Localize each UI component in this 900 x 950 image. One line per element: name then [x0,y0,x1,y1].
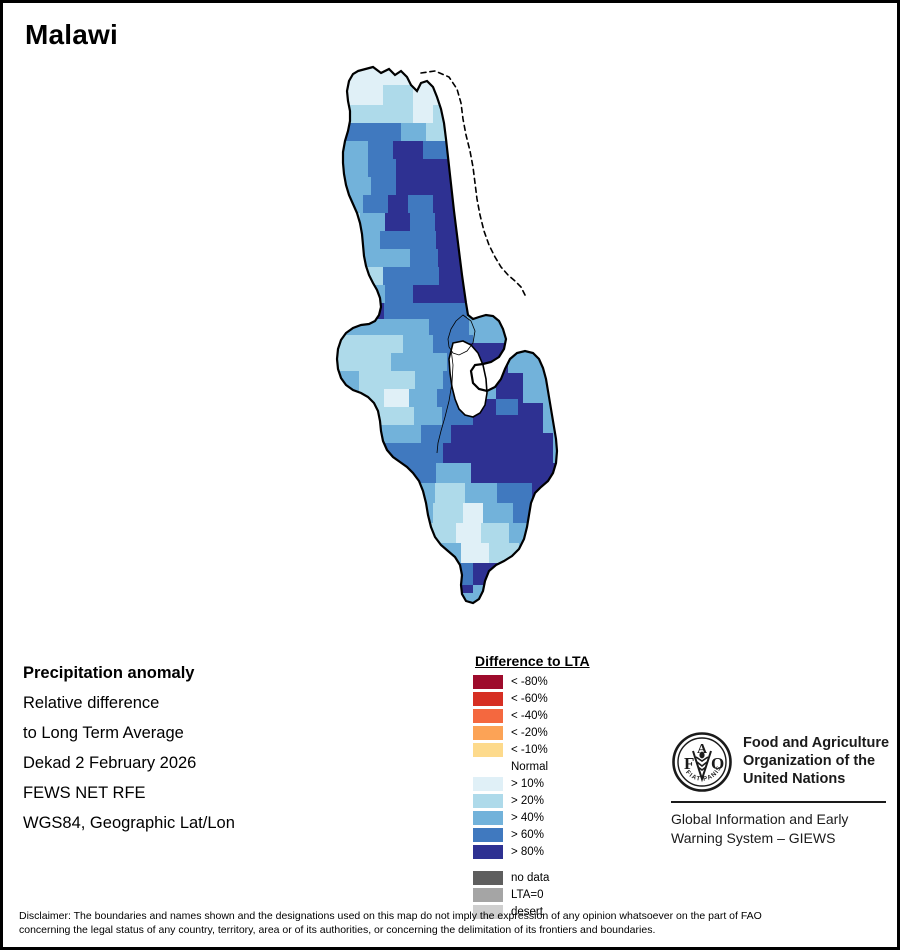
legend-label: < -60% [511,693,548,705]
legend-swatch [473,743,503,757]
page-title: Malawi [25,19,118,51]
fao-emblem-icon: F A O FIAT PANIS [671,731,733,793]
legend-row: < -20% [473,724,663,741]
legend-label: < -80% [511,676,548,688]
anomaly-raster [303,53,623,623]
legend-label: > 10% [511,778,544,790]
legend-label: > 20% [511,795,544,807]
legend-row-nodata: no data [473,869,663,886]
legend-swatch [473,777,503,791]
caption-line-3: to Long Term Average [23,718,323,748]
disclaimer-line-2: concerning the legal status of any count… [19,923,889,937]
caption-line-4: Dekad 2 February 2026 [23,748,323,778]
legend-swatch [473,845,503,859]
malawi-anomaly-map [303,53,623,623]
legend-label: > 60% [511,829,544,841]
disclaimer-block: Disclaimer: The boundaries and names sho… [19,909,889,937]
disclaimer-line-1: Disclaimer: The boundaries and names sho… [19,909,889,923]
legend-swatch [473,888,503,902]
legend-label: no data [511,872,549,884]
legend-swatch [473,675,503,689]
caption-line-5: FEWS NET RFE [23,778,323,808]
legend-label: > 80% [511,846,544,858]
legend-row-normal: Normal [473,758,663,775]
legend-label: Normal [511,761,548,773]
legend-label: < -10% [511,744,548,756]
legend-label: > 40% [511,812,544,824]
caption-line-1: Precipitation anomaly [23,658,323,688]
legend-row: > 80% [473,843,663,860]
fao-name-line-2: Organization of the [743,752,889,770]
legend-label: < -20% [511,727,548,739]
legend-label: < -40% [511,710,548,722]
legend-title: Difference to LTA [475,653,663,669]
caption-line-6: WGS84, Geographic Lat/Lon [23,808,323,838]
fao-divider [671,801,886,803]
fao-logo-row: F A O FIAT PANIS [671,731,886,793]
caption-line-2: Relative difference [23,688,323,718]
fao-name-line-1: Food and Agriculture [743,734,889,752]
legend-row: > 40% [473,809,663,826]
fao-branding-block: F A O FIAT PANIS [671,731,886,848]
legend-row: < -40% [473,707,663,724]
legend-row: > 60% [473,826,663,843]
legend-row-lta-zero: LTA=0 [473,886,663,903]
legend-row: > 20% [473,792,663,809]
legend-row: < -80% [473,673,663,690]
fao-name-line-3: United Nations [743,770,889,788]
legend-swatch [473,692,503,706]
map-legend: Difference to LTA < -80% < -60% < -40% <… [473,653,663,920]
legend-swatch [473,811,503,825]
legend-row: < -10% [473,741,663,758]
legend-swatch [473,828,503,842]
legend-swatch [473,709,503,723]
legend-row: > 10% [473,775,663,792]
legend-swatch [473,726,503,740]
legend-row: < -60% [473,690,663,707]
map-caption-block: Precipitation anomaly Relative differenc… [23,658,323,838]
map-page: Malawi [0,0,900,950]
legend-swatch [473,871,503,885]
giews-line-1: Global Information and Early [671,810,886,829]
legend-swatch [473,794,503,808]
giews-line-2: Warning System – GIEWS [671,829,886,848]
fao-organization-name: Food and Agriculture Organization of the… [743,731,889,788]
legend-label: LTA=0 [511,889,544,901]
giews-programme-name: Global Information and Early Warning Sys… [671,810,886,848]
legend-spacer [473,860,663,869]
legend-swatch-normal [473,760,503,774]
